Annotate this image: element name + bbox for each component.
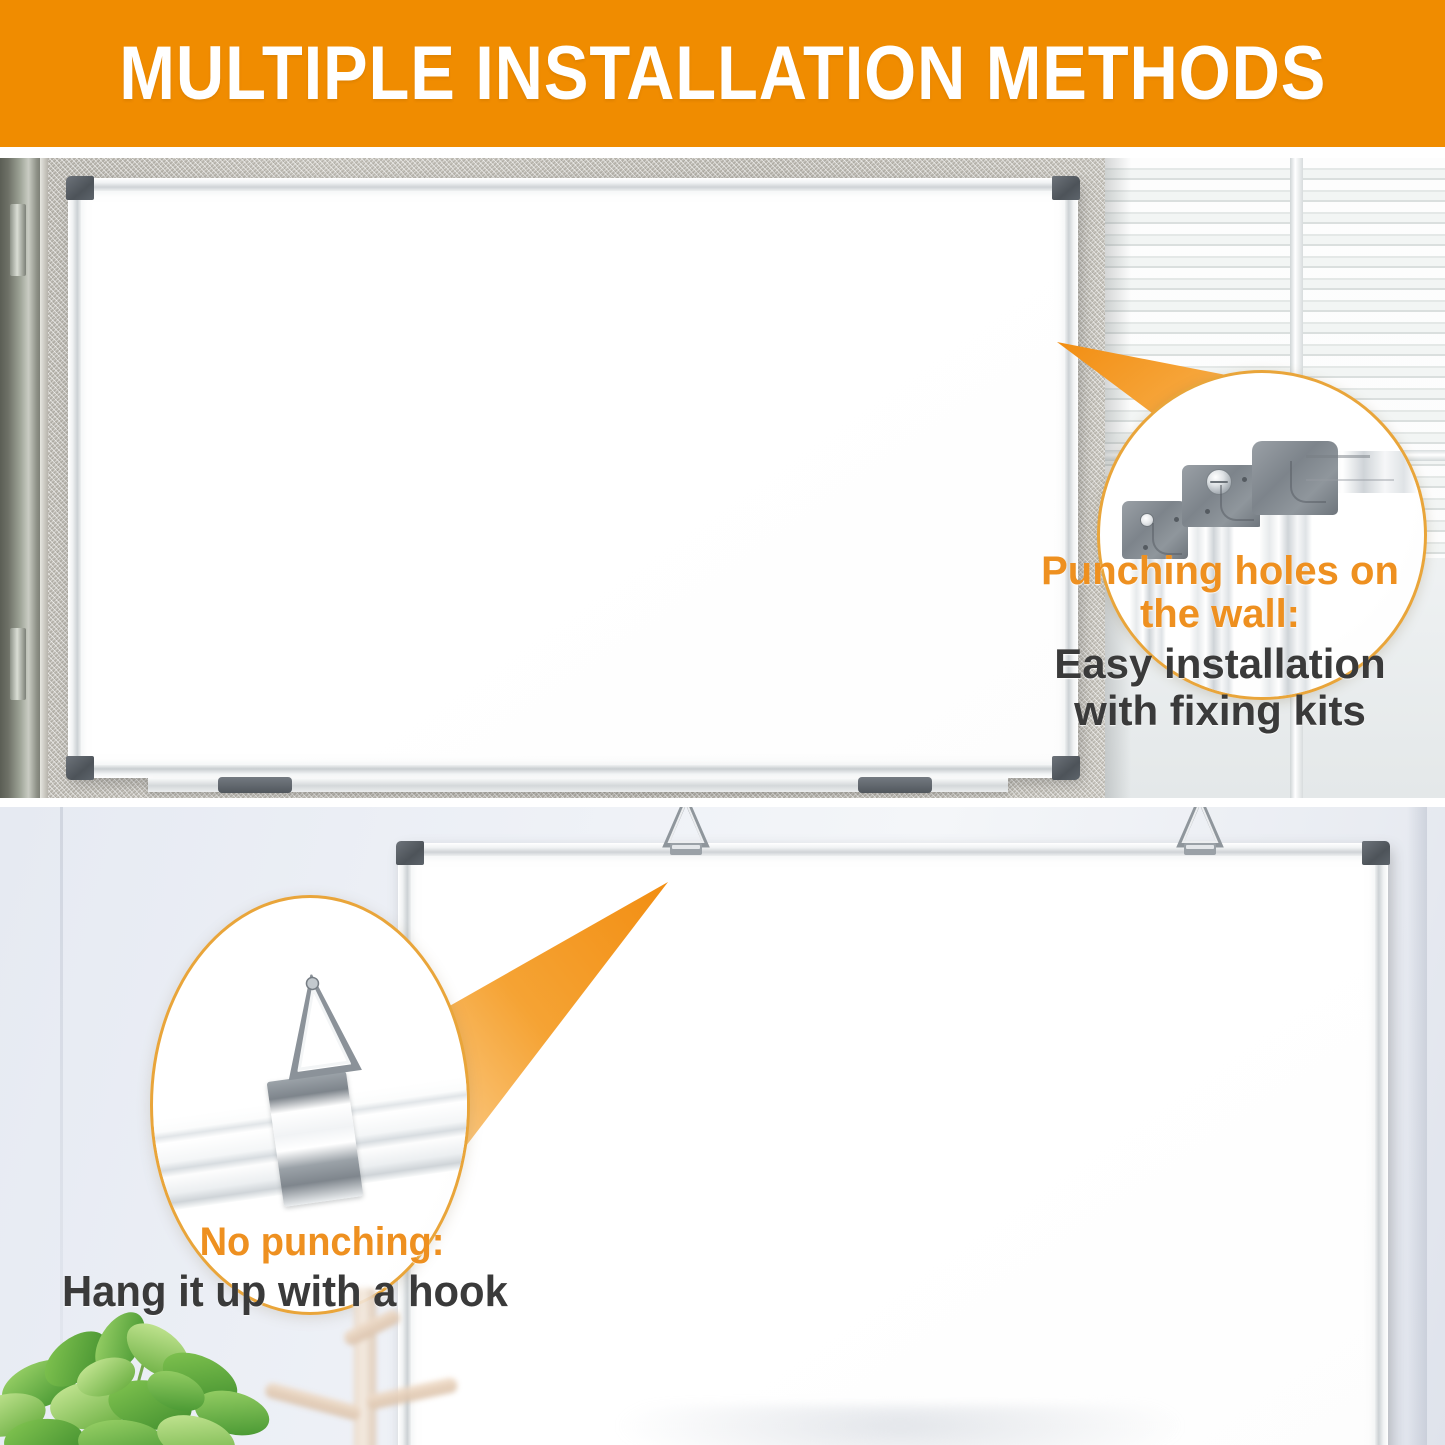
header-banner: MULTIPLE INSTALLATION METHODS (0, 0, 1445, 147)
whiteboard-frame (68, 178, 1078, 778)
corner-cap-bottom-right (1052, 756, 1080, 780)
frame-rail-top (398, 843, 1388, 856)
corner-cap-top-left (66, 176, 94, 200)
panel-divider (0, 798, 1445, 807)
frame-rail-right (1375, 843, 1388, 1445)
wall-right-edge (1407, 805, 1427, 1445)
door-hinge-icon (10, 628, 26, 700)
method-label-punching: Punching holes on the wall: (1010, 550, 1430, 636)
profile-groove-line (1306, 479, 1394, 481)
method-desc-line2: with fixing kits (1010, 687, 1430, 734)
potted-plant (0, 1255, 350, 1445)
panel-no-punching: No punching: Hang it up with a hook (0, 805, 1445, 1445)
callout-text-punching: Punching holes on the wall: Easy install… (1010, 550, 1430, 734)
plant-leaves (0, 1304, 274, 1445)
banner-title: MULTIPLE INSTALLATION METHODS (119, 30, 1326, 117)
profile-groove-line (1306, 455, 1370, 458)
whiteboard-writing-surface (81, 191, 1065, 765)
pen-tray-clip (218, 777, 292, 793)
cap-contour-line (1220, 485, 1254, 521)
cap-contour-line (1290, 461, 1326, 503)
triangular-hanger-zoomed (264, 968, 375, 1092)
panel-punching-holes: Punching holes on the wall: Easy install… (0, 158, 1445, 798)
coat-rack-arm (365, 1377, 458, 1411)
triangular-hanger-right (1170, 805, 1230, 857)
corner-cap-top-left (396, 841, 424, 865)
whiteboard-top (68, 178, 1078, 778)
blurred-counter (620, 1405, 1180, 1445)
screw-point-icon (1242, 477, 1247, 482)
corner-cap-top-right (1052, 176, 1080, 200)
frame-rail-left (68, 178, 81, 778)
corner-cap-bottom-left (66, 756, 94, 780)
door-edge-highlight (40, 158, 48, 798)
frame-rail-top (68, 178, 1078, 191)
triangular-hanger-left (656, 805, 716, 857)
screw-point-icon (1205, 509, 1210, 514)
screw-point-icon (1174, 517, 1179, 522)
pen-tray-clip (858, 777, 932, 793)
method-desc-line1: Easy installation (1010, 640, 1430, 687)
door-hinge-icon (10, 204, 26, 276)
corner-cap-top-right (1362, 841, 1390, 865)
